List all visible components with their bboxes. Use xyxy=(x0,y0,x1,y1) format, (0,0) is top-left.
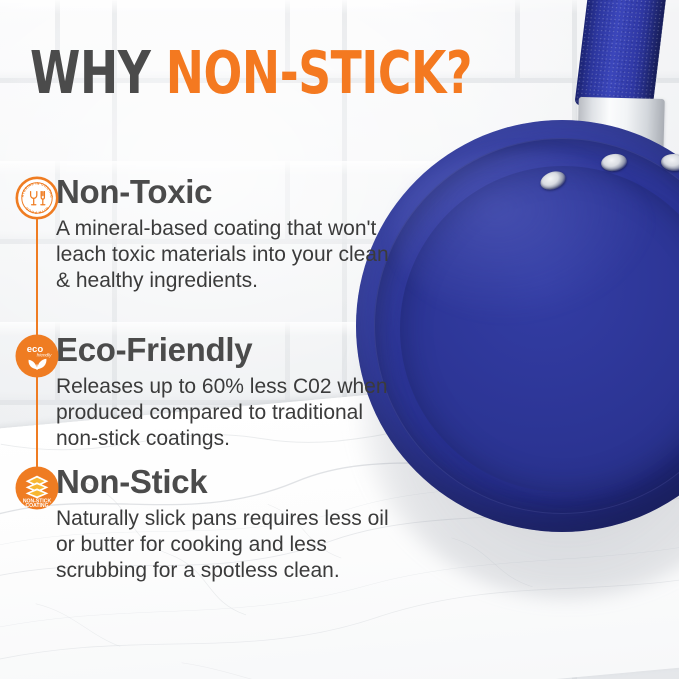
title-part-why: WHY xyxy=(30,38,166,107)
eco-friendly-badge-icon: eco friendly xyxy=(15,334,59,378)
feature-description: Naturally slick pans requires less oil o… xyxy=(0,506,400,584)
title-part-non-stick: NON-STICK? xyxy=(166,38,472,107)
feature-heading: Non-Toxic xyxy=(0,172,400,212)
feature-eco-friendly: eco friendly Eco-Friendly Releases up to… xyxy=(0,330,400,452)
infographic-scene: WHY NON-STICK? MATERIAL IN CONTACT WITH … xyxy=(0,0,679,679)
food-safe-badge-icon: MATERIAL IN CONTACT WITH FOOD xyxy=(15,176,59,220)
feature-description: A mineral-based coating that won't leach… xyxy=(0,216,400,294)
feature-heading: Eco-Friendly xyxy=(0,330,400,370)
non-stick-coating-badge-icon: NON-STICK COATING xyxy=(15,466,59,510)
feature-heading: Non-Stick xyxy=(0,462,400,502)
page-title: WHY NON-STICK? xyxy=(30,42,472,104)
infographic-content: WHY NON-STICK? MATERIAL IN CONTACT WITH … xyxy=(0,0,679,679)
svg-text:friendly: friendly xyxy=(37,353,53,358)
feature-non-stick: NON-STICK COATING Non-Stick Naturally sl… xyxy=(0,462,400,584)
feature-description: Releases up to 60% less C02 when produce… xyxy=(0,374,400,452)
feature-non-toxic: MATERIAL IN CONTACT WITH FOOD Non-Toxic … xyxy=(0,172,400,294)
svg-text:COATING: COATING xyxy=(25,503,48,509)
